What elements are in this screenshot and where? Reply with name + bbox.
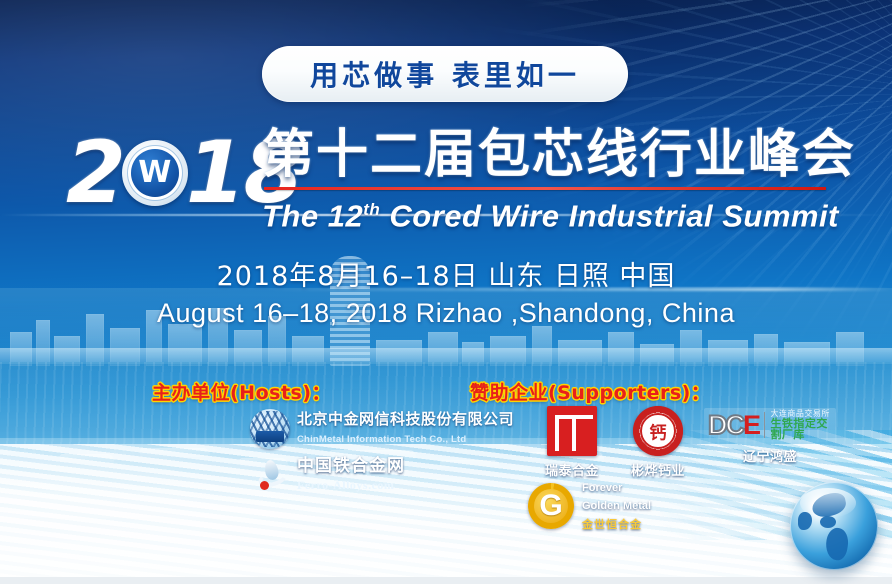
chinmetal-name-en: ChinMetal Information Tech Co., Ltd	[297, 434, 466, 445]
dce-letters: DCE	[704, 412, 759, 439]
date-english: August 16–18, 2018 Rizhao ,Shandong, Chi…	[0, 298, 892, 329]
forever-golden-metal-gear-icon	[528, 483, 574, 529]
chinmetal-text: 北京中金网信科技股份有限公司 ChinMetal Information Tec…	[297, 411, 514, 447]
supporter-name-binye: 彬烨钙业	[610, 460, 706, 479]
dce-divider	[764, 412, 765, 438]
date-chinese: 2018年8月16–18日 山东 日照 中国	[0, 254, 892, 293]
forever-golden-metal-row: Forever Golden Metal 金世恒合金	[528, 478, 698, 533]
supporter-name-ruitai: 瑞泰合金	[524, 460, 620, 479]
chinmetal-name-cn: 北京中金网信科技股份有限公司	[297, 410, 514, 428]
ferroalloys-name-en: Ferro-Alloys.com	[297, 478, 394, 492]
headline-red-rule	[264, 187, 826, 190]
headline-ordinal-suffix: th	[363, 200, 380, 219]
headline-english: The 12th Cored Wire Industrial Summit	[262, 192, 842, 234]
binye-seal-icon: 钙	[633, 406, 683, 456]
footer-strip	[0, 577, 892, 584]
supporter-ruitai[interactable]: 瑞泰合金	[524, 406, 620, 479]
fgm-name-cn: 金世恒合金	[582, 518, 642, 531]
fgm-name-en-line2: Golden Metal	[582, 500, 651, 512]
supporter-name-liaoning-hongsheng: 辽宁鸿盛	[700, 446, 840, 465]
w-circle-icon: W	[122, 140, 188, 206]
dce-subtext-bottom: 生铁指定交割厂库	[770, 417, 828, 441]
ferroalloys-flame-icon	[256, 458, 290, 492]
supporter-binye[interactable]: 钙 彬烨钙业	[610, 406, 706, 479]
dce-letter-e: E	[743, 410, 759, 440]
chinmetal-globe-icon	[250, 409, 290, 449]
supporter-forever-golden-metal[interactable]: Forever Golden Metal 金世恒合金	[528, 478, 698, 533]
hosts-label: 主办单位(Hosts)：	[152, 378, 331, 405]
host-logo-ferroalloys[interactable]: 中国铁合金网 Ferro-Alloys.com	[256, 457, 405, 494]
dce-logo-icon: DCE 大连商品交易所 生铁指定交割厂库	[704, 408, 836, 442]
ferroalloys-name-cn: 中国铁合金网	[297, 456, 405, 476]
headline-chinese: 第十二届包芯线行业峰会	[262, 126, 842, 184]
binye-seal-glyph: 钙	[633, 419, 683, 444]
headline-english-before: The 12	[262, 198, 363, 233]
conference-poster: 用芯做事 表里如一 2 W 18 第十二届包芯线行业峰会 The 12th Co…	[0, 0, 892, 584]
supporters-label: 赞助企业(Supporters)：	[470, 378, 710, 405]
dce-letter-c: C	[726, 410, 744, 440]
ruitai-logo-icon	[547, 406, 597, 456]
tagline-banner: 用芯做事 表里如一	[262, 46, 628, 102]
dce-letter-d: D	[708, 410, 726, 440]
dce-subtext: 大连商品交易所 生铁指定交割厂库	[770, 409, 836, 441]
fgm-name-en-line1: Forever	[582, 482, 622, 494]
headline-block: 第十二届包芯线行业峰会 The 12th Cored Wire Industri…	[262, 126, 842, 234]
year-prefix: 2	[66, 130, 124, 216]
headline-english-after: Cored Wire Industrial Summit	[380, 198, 839, 233]
tagline-text: 用芯做事 表里如一	[310, 54, 580, 94]
host-logo-chinmetal[interactable]: 北京中金网信科技股份有限公司 ChinMetal Information Tec…	[250, 409, 514, 449]
ferroalloys-text: 中国铁合金网 Ferro-Alloys.com	[297, 457, 405, 494]
globe-icon	[790, 482, 878, 570]
w-letter: W	[131, 149, 179, 197]
supporter-liaoning-hongsheng[interactable]: DCE 大连商品交易所 生铁指定交割厂库 辽宁鸿盛	[700, 408, 840, 465]
date-location-block: 2018年8月16–18日 山东 日照 中国 August 16–18, 201…	[0, 254, 892, 329]
forever-golden-metal-text: Forever Golden Metal 金世恒合金	[582, 478, 651, 533]
